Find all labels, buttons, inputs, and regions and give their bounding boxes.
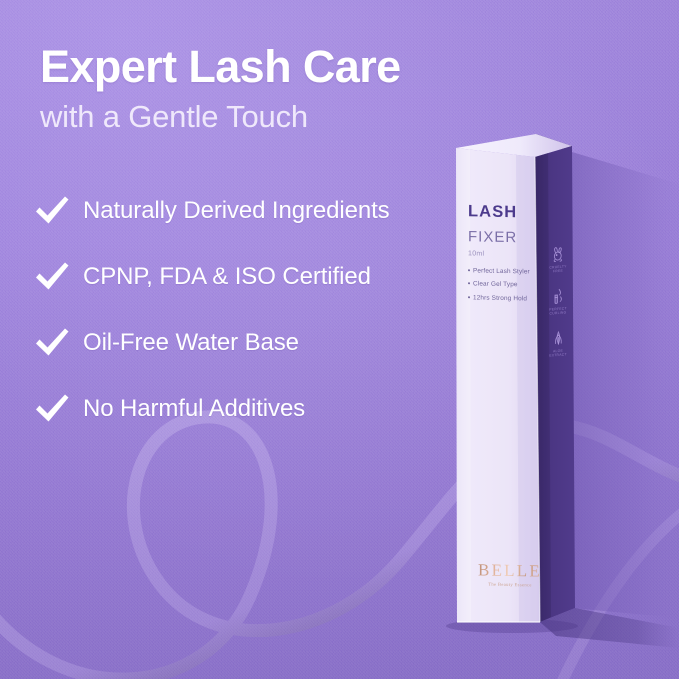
list-item-label: No Harmful Additives — [83, 395, 305, 423]
page-title: Expert Lash Care — [40, 44, 470, 89]
list-item-label: Oil-Free Water Base — [83, 329, 299, 357]
check-icon — [33, 392, 71, 426]
check-icon — [33, 326, 71, 360]
list-item-label: CPNP, FDA & ISO Certified — [83, 263, 371, 291]
list-item: No Harmful Additives — [33, 376, 453, 442]
check-icon — [33, 260, 71, 294]
page-subtitle: with a Gentle Touch — [40, 101, 470, 132]
list-item: Oil-Free Water Base — [33, 310, 453, 376]
list-item: CPNP, FDA & ISO Certified — [33, 244, 453, 310]
hero-text-block: Expert Lash Care with a Gentle Touch — [40, 44, 470, 132]
list-item-label: Naturally Derived Ingredients — [83, 197, 390, 225]
product-marketing-image: Expert Lash Care with a Gentle Touch Nat… — [0, 0, 679, 679]
check-icon — [33, 194, 71, 228]
list-item: Naturally Derived Ingredients — [33, 178, 453, 244]
feature-list: Naturally Derived Ingredients CPNP, FDA … — [33, 178, 453, 442]
